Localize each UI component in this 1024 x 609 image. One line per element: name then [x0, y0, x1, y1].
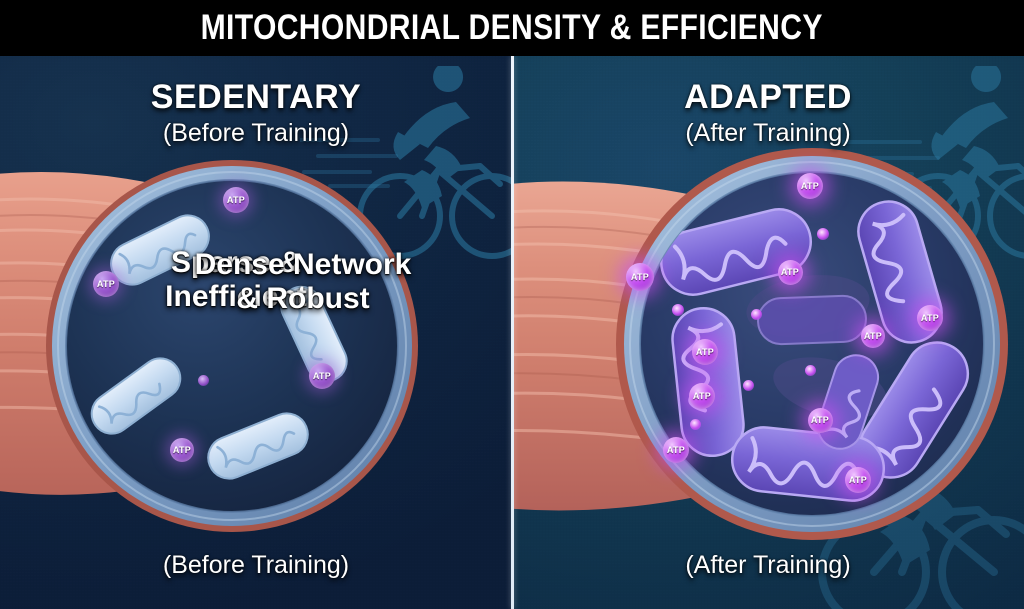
panel-adapted: ADAPTED (After Training) (After Training…: [512, 56, 1024, 609]
panel-sedentary: SEDENTARY (Before Training) (Before Trai…: [0, 56, 512, 609]
panel-right-texture: [512, 56, 1024, 609]
panel-left-texture: [0, 56, 512, 609]
title-band: MITOCHONDRIAL DENSITY & EFFICIENCY: [0, 0, 1024, 56]
infographic-root: MITOCHONDRIAL DENSITY & EFFICIENCY: [0, 0, 1024, 609]
page-title: MITOCHONDRIAL DENSITY & EFFICIENCY: [201, 8, 823, 48]
panel-divider: [511, 56, 514, 609]
